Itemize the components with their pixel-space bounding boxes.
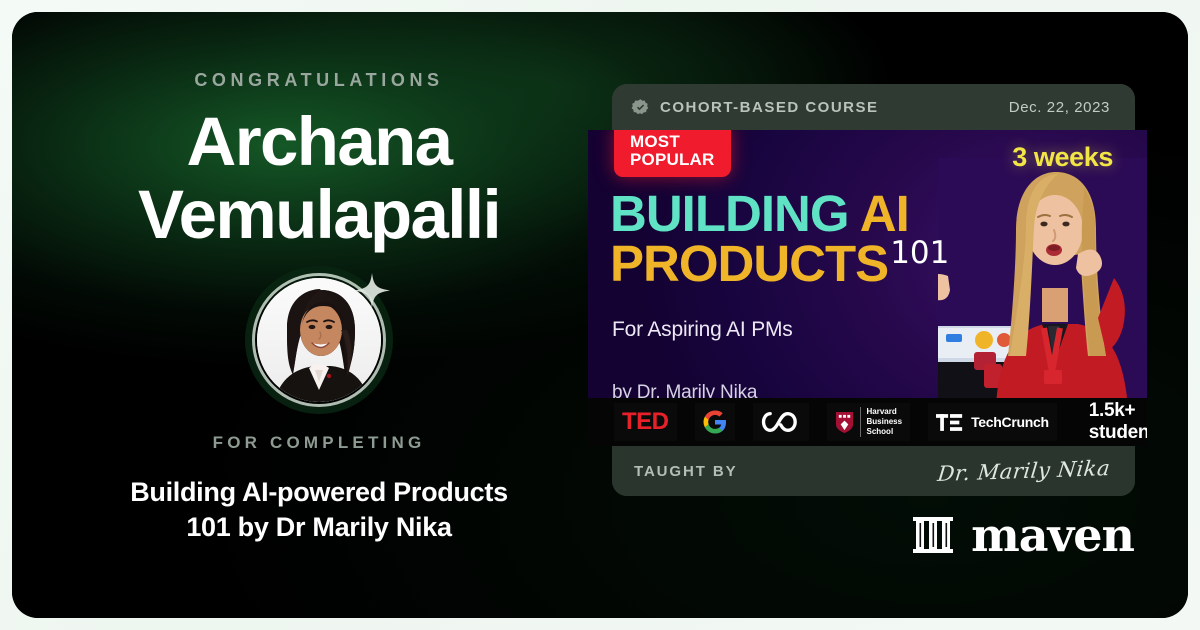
- google-logo: [695, 403, 735, 441]
- techcrunch-mark-icon: [936, 414, 964, 431]
- instructor-signature: Dr. Marily Nika: [937, 456, 1112, 486]
- banner-title-ai: AI: [860, 185, 909, 242]
- recipient-name: Archana Vemulapalli: [39, 105, 599, 251]
- most-popular-line-1: MOST: [630, 132, 680, 151]
- course-date: Dec. 22, 2023: [1009, 99, 1110, 116]
- recipient-section: CONGRATULATIONS Archana Vemulapalli: [24, 12, 614, 618]
- most-popular-line-2: POPULAR: [630, 150, 715, 169]
- ted-logo: TED: [614, 403, 677, 441]
- banner-title-101: 101: [890, 235, 949, 271]
- harvard-shield-icon: [835, 411, 854, 434]
- course-card-footer: TAUGHT BY Dr. Marily Nika: [612, 446, 1135, 496]
- meta-infinity-icon: [761, 410, 801, 434]
- avatar: [252, 273, 386, 407]
- most-popular-badge: MOST POPULAR: [614, 130, 731, 177]
- course-preview-card[interactable]: COHORT-BASED COURSE Dec. 22, 2023: [612, 84, 1135, 496]
- avatar-ring: [252, 273, 386, 407]
- banner-title-line-1: BUILDING AI: [610, 190, 949, 239]
- certificate-card: CONGRATULATIONS Archana Vemulapalli: [12, 12, 1188, 618]
- harvard-logo-label: HarvardBusinessSchool: [860, 407, 903, 436]
- completed-course-title: Building AI-powered Products 101 by Dr M…: [59, 475, 579, 544]
- verified-badge-icon: [631, 98, 650, 117]
- social-proof-logo-strip: TED: [588, 398, 1147, 446]
- speaker-photo: [938, 158, 1147, 408]
- recipient-name-line-1: Archana: [39, 105, 599, 178]
- course-title-line-1: Building AI-powered Products: [130, 477, 508, 507]
- congratulations-kicker: CONGRATULATIONS: [194, 70, 443, 91]
- maven-wordmark: maven: [971, 512, 1134, 558]
- maven-pillar-icon: [910, 512, 956, 558]
- maven-logo[interactable]: maven: [910, 512, 1134, 558]
- banner-title-building: BUILDING: [610, 185, 848, 242]
- harvard-business-school-logo: HarvardBusinessSchool: [827, 403, 911, 441]
- certificate-page: CONGRATULATIONS Archana Vemulapalli: [0, 0, 1200, 630]
- recipient-name-line-2: Vemulapalli: [39, 178, 599, 251]
- ted-logo-label: TED: [622, 408, 669, 436]
- course-card-header: COHORT-BASED COURSE Dec. 22, 2023: [612, 84, 1135, 130]
- for-completing-kicker: FOR COMPLETING: [213, 433, 426, 453]
- techcrunch-logo-label: TechCrunch: [971, 414, 1049, 430]
- meta-logo: [753, 403, 809, 441]
- course-duration-label: 3 weeks: [1012, 142, 1113, 173]
- google-g-icon: [703, 410, 727, 434]
- banner-title-products: PRODUCTS: [610, 235, 888, 292]
- banner-title-line-2: PRODUCTS101: [610, 239, 949, 289]
- course-type-label: COHORT-BASED COURSE: [660, 99, 879, 116]
- course-title-line-2: 101 by Dr Marily Nika: [186, 512, 451, 542]
- student-count-label: 1.5k+ students: [1089, 400, 1147, 444]
- banner-subtitle: For Aspiring AI PMs: [612, 318, 793, 342]
- taught-by-label: TAUGHT BY: [634, 463, 737, 480]
- course-banner-image: MOST POPULAR 3 weeks BUILDING AI PRODUCT…: [588, 130, 1147, 446]
- course-type-group: COHORT-BASED COURSE: [631, 98, 879, 117]
- banner-title: BUILDING AI PRODUCTS101: [610, 190, 949, 289]
- techcrunch-logo: TechCrunch: [928, 403, 1057, 441]
